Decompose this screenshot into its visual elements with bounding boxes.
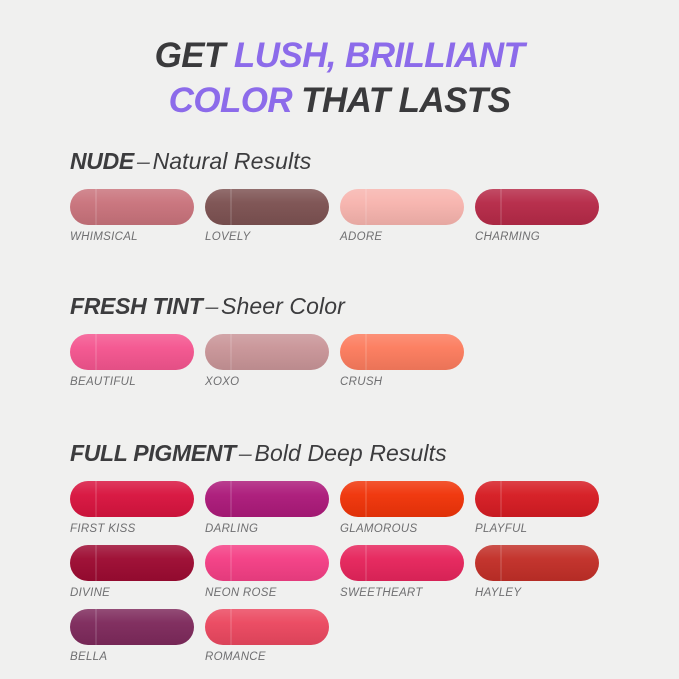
shade-swatch[interactable] bbox=[70, 334, 194, 370]
section-fresh-tint-description: Sheer Color bbox=[221, 293, 345, 319]
page-title: GET LUSH, BRILLIANT COLOR THAT LASTS bbox=[0, 0, 679, 124]
section-full-pigment-name: FULL PIGMENT bbox=[70, 440, 236, 466]
swatch-grid-full-pigment: FIRST KISS DARLING GLAMOROUS PLAYFUL DIV… bbox=[70, 481, 661, 673]
shade-label: WHIMSICAL bbox=[70, 231, 205, 243]
swatch-grid-fresh-tint: BEAUTIFUL XOXO CRUSH bbox=[70, 334, 661, 398]
shade-label: SWEETHEART bbox=[340, 587, 475, 599]
swatch-cell[interactable]: ADORE bbox=[340, 189, 475, 243]
shade-label: ADORE bbox=[340, 231, 475, 243]
shade-swatch[interactable] bbox=[340, 481, 464, 517]
shade-swatch[interactable] bbox=[205, 481, 329, 517]
headline-that-lasts: THAT LASTS bbox=[301, 81, 510, 120]
swatch-cell[interactable]: FIRST KISS bbox=[70, 481, 205, 535]
section-fresh-tint-name: FRESH TINT bbox=[70, 293, 202, 319]
headline-color: COLOR bbox=[169, 81, 302, 120]
shade-swatch[interactable] bbox=[340, 545, 464, 581]
shade-label: FIRST KISS bbox=[70, 523, 205, 535]
shade-chart-page: GET LUSH, BRILLIANT COLOR THAT LASTS NUD… bbox=[0, 0, 679, 679]
headline-line-1: GET LUSH, BRILLIANT bbox=[0, 34, 679, 79]
swatch-cell[interactable]: DARLING bbox=[205, 481, 340, 535]
shade-label: BEAUTIFUL bbox=[70, 376, 205, 388]
section-full-pigment-heading: FULL PIGMENT–Bold Deep Results bbox=[70, 440, 661, 467]
section-fresh-tint: FRESH TINT–Sheer Color BEAUTIFUL XOXO CR… bbox=[70, 293, 661, 398]
headline-get: GET bbox=[155, 36, 234, 75]
shade-swatch[interactable] bbox=[70, 481, 194, 517]
swatch-cell[interactable]: DIVINE bbox=[70, 545, 205, 599]
shade-swatch[interactable] bbox=[205, 189, 329, 225]
shade-swatch[interactable] bbox=[70, 545, 194, 581]
swatch-cell[interactable]: WHIMSICAL bbox=[70, 189, 205, 243]
shade-swatch[interactable] bbox=[205, 609, 329, 645]
shade-swatch[interactable] bbox=[70, 189, 194, 225]
headline-line-2: COLOR THAT LASTS bbox=[0, 79, 679, 124]
swatch-cell[interactable]: PLAYFUL bbox=[475, 481, 610, 535]
swatch-cell[interactable]: SWEETHEART bbox=[340, 545, 475, 599]
shade-label: DIVINE bbox=[70, 587, 205, 599]
shade-label: GLAMOROUS bbox=[340, 523, 475, 535]
section-nude-name: NUDE bbox=[70, 148, 134, 174]
section-nude-description: Natural Results bbox=[153, 148, 312, 174]
shade-label: BELLA bbox=[70, 651, 205, 663]
swatch-cell[interactable]: GLAMOROUS bbox=[340, 481, 475, 535]
swatch-grid-nude: WHIMSICAL LOVELY ADORE CHARMING bbox=[70, 189, 661, 253]
section-full-pigment-dash: – bbox=[236, 440, 255, 466]
swatch-cell[interactable]: XOXO bbox=[205, 334, 340, 388]
shade-label: CHARMING bbox=[475, 231, 610, 243]
shade-label: CRUSH bbox=[340, 376, 475, 388]
swatch-cell[interactable]: BEAUTIFUL bbox=[70, 334, 205, 388]
shade-sections: NUDE–Natural Results WHIMSICAL LOVELY AD… bbox=[0, 148, 679, 673]
shade-swatch[interactable] bbox=[340, 334, 464, 370]
swatch-cell[interactable]: CHARMING bbox=[475, 189, 610, 243]
shade-swatch[interactable] bbox=[70, 609, 194, 645]
section-nude-dash: – bbox=[134, 148, 153, 174]
swatch-cell[interactable]: CRUSH bbox=[340, 334, 475, 388]
swatch-cell[interactable]: NEON ROSE bbox=[205, 545, 340, 599]
shade-label: NEON ROSE bbox=[205, 587, 340, 599]
swatch-cell[interactable]: BELLA bbox=[70, 609, 205, 663]
swatch-cell[interactable]: ROMANCE bbox=[205, 609, 340, 663]
section-full-pigment: FULL PIGMENT–Bold Deep Results FIRST KIS… bbox=[70, 440, 661, 673]
shade-swatch[interactable] bbox=[205, 545, 329, 581]
section-fresh-tint-heading: FRESH TINT–Sheer Color bbox=[70, 293, 661, 320]
swatch-cell[interactable]: HAYLEY bbox=[475, 545, 610, 599]
shade-swatch[interactable] bbox=[475, 545, 599, 581]
shade-label: PLAYFUL bbox=[475, 523, 610, 535]
shade-label: DARLING bbox=[205, 523, 340, 535]
section-full-pigment-description: Bold Deep Results bbox=[255, 440, 447, 466]
shade-label: HAYLEY bbox=[475, 587, 610, 599]
shade-label: XOXO bbox=[205, 376, 340, 388]
shade-swatch[interactable] bbox=[205, 334, 329, 370]
headline-lush-brilliant: LUSH, BRILLIANT bbox=[234, 36, 524, 75]
section-nude: NUDE–Natural Results WHIMSICAL LOVELY AD… bbox=[70, 148, 661, 253]
swatch-cell[interactable]: LOVELY bbox=[205, 189, 340, 243]
shade-swatch[interactable] bbox=[340, 189, 464, 225]
shade-swatch[interactable] bbox=[475, 189, 599, 225]
shade-label: ROMANCE bbox=[205, 651, 340, 663]
section-nude-heading: NUDE–Natural Results bbox=[70, 148, 661, 175]
shade-label: LOVELY bbox=[205, 231, 340, 243]
section-fresh-tint-dash: – bbox=[202, 293, 221, 319]
shade-swatch[interactable] bbox=[475, 481, 599, 517]
